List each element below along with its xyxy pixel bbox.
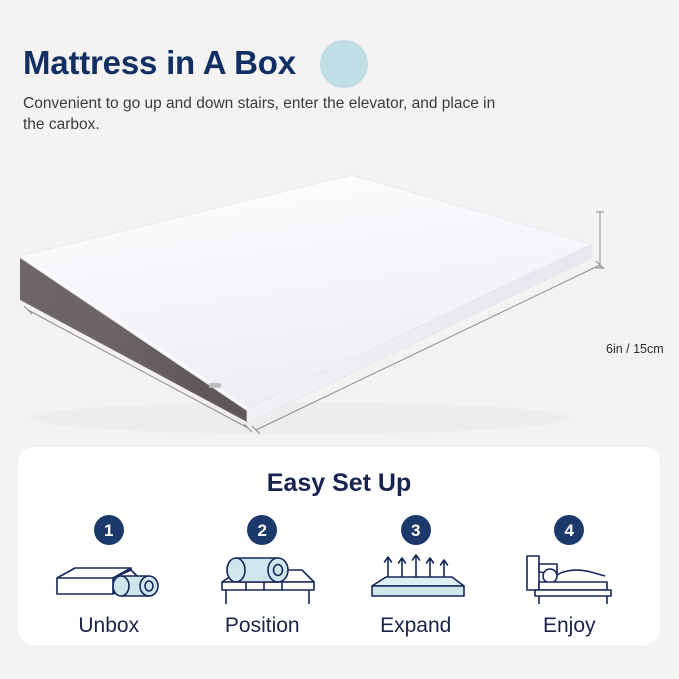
product-hero-image: 6in / 15cm 54in / 137cm 75in / 191cm [0, 130, 679, 440]
step-label: Expand [380, 613, 451, 639]
step-label: Enjoy [543, 613, 596, 639]
mattress-label-tab [209, 383, 221, 388]
step-number-badge: 1 [94, 515, 124, 545]
dimension-label-height: 6in / 15cm [606, 342, 664, 356]
setup-steps-list: 1 [18, 515, 660, 639]
setup-step-position: 2 [186, 515, 340, 639]
expand-arrows-group [384, 555, 447, 578]
page-subtitle: Convenient to go up and down stairs, ent… [23, 93, 503, 135]
person-sleeping-in-bed-icon [513, 552, 625, 608]
step-number-badge: 4 [554, 515, 584, 545]
step-number-badge: 3 [401, 515, 431, 545]
easy-setup-heading: Easy Set Up [18, 469, 660, 498]
mattress-expanding-arrows-icon [360, 552, 472, 608]
step-label: Unbox [78, 613, 139, 639]
mattress-3d-illustration [0, 130, 679, 440]
mattress-shadow [30, 402, 570, 434]
step-number-badge: 2 [247, 515, 277, 545]
title-accent-circle [320, 40, 368, 88]
setup-step-unbox: 1 [32, 515, 186, 639]
step-illustration [360, 550, 472, 608]
rolled-mattress-on-bedframe-icon [206, 552, 318, 608]
setup-step-expand: 3 [339, 515, 493, 639]
height-dimension-line [596, 212, 604, 268]
step-illustration [53, 550, 165, 608]
page-title-wrap: Mattress in A Box [23, 40, 296, 86]
page-title: Mattress in A Box [23, 40, 296, 86]
step-illustration [513, 550, 625, 608]
step-label: Position [225, 613, 300, 639]
box-with-rolled-mattress-icon [53, 562, 165, 608]
easy-setup-card: Easy Set Up 1 [18, 447, 660, 645]
step-illustration [206, 550, 318, 608]
setup-step-enjoy: 4 [493, 515, 647, 639]
header: Mattress in A Box Convenient to go up an… [23, 40, 643, 135]
